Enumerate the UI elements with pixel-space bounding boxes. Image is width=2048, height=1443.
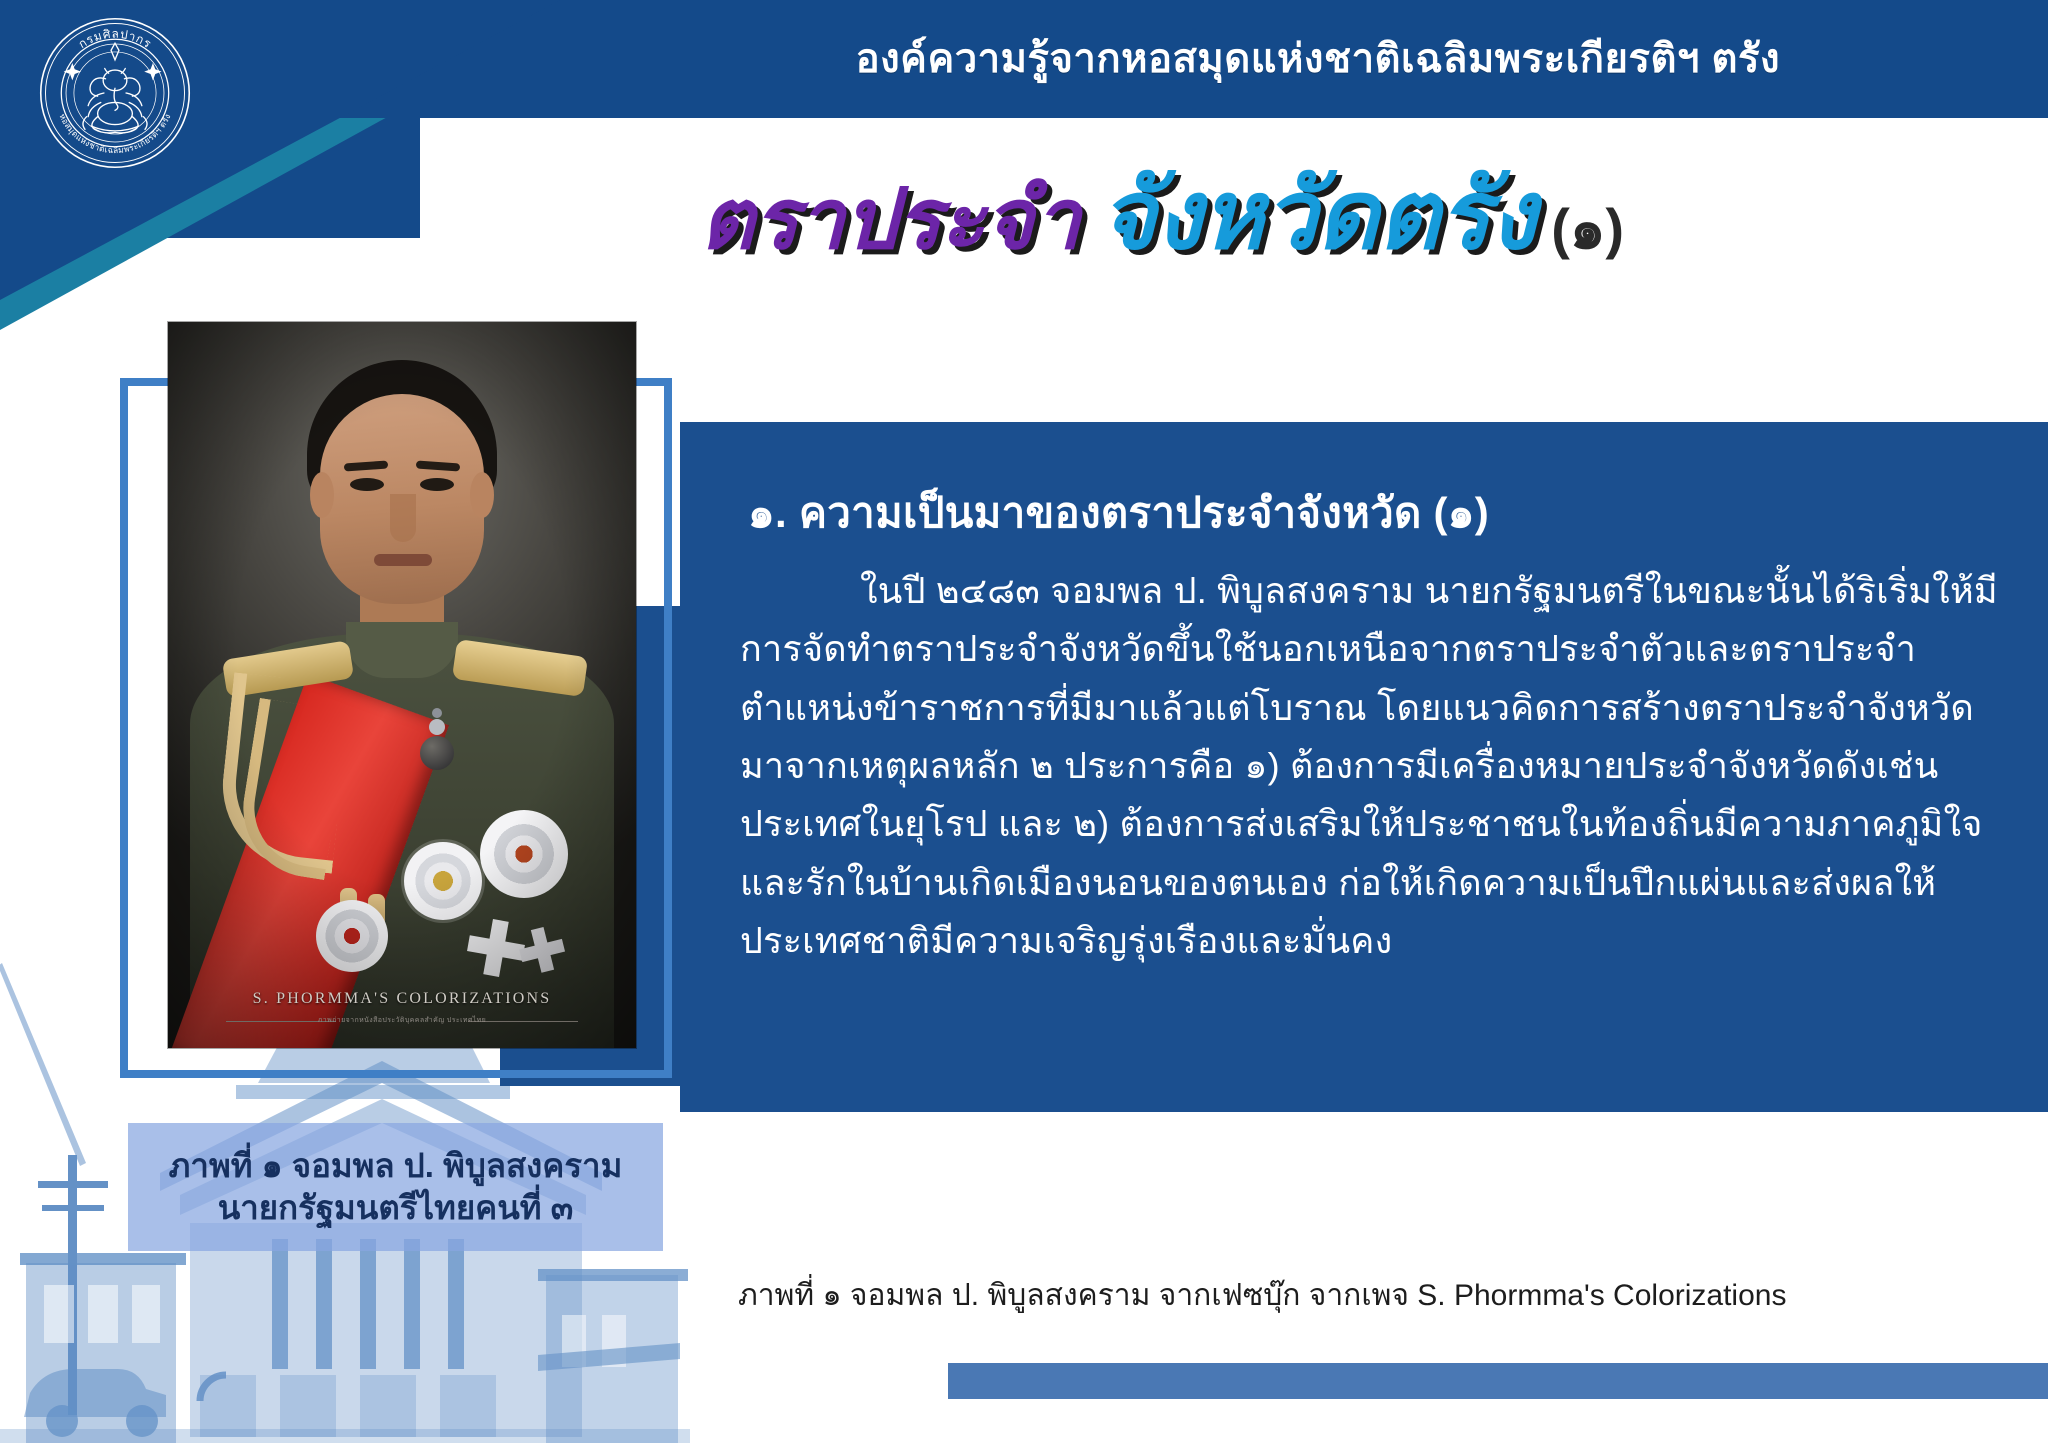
fine-arts-department-seal-icon: กรมศิลปากร หอสมุดแห่งชาติเฉลิมพระเกียรติ… — [36, 14, 194, 172]
photo-vignette — [168, 322, 636, 1048]
photo-watermark-subtitle: ภาพถ่ายจากหนังสือประวัติบุคคลสำคัญ ประเท… — [168, 1015, 636, 1026]
figure-caption-box: ภาพที่ ๑ จอมพล ป. พิบูลสงคราม นายกรัฐมนต… — [128, 1123, 663, 1251]
section-body-text: ในปี ๒๔๘๓ จอมพล ป. พิบูลสงคราม นายกรัฐมน… — [740, 562, 2010, 970]
svg-text:หอสมุดแห่งชาติเฉลิมพระเกียรติฯ: หอสมุดแห่งชาติเฉลิมพระเกียรติฯ ตรัง — [57, 112, 172, 155]
svg-text:กรมศิลปากร: กรมศิลปากร — [76, 27, 154, 51]
seal-top-text: กรมศิลปากร — [76, 27, 154, 51]
title-part-3: (๑) — [1551, 197, 1624, 260]
title-part-1: ตราประจำ — [700, 177, 1080, 261]
organization-title: องค์ความรู้จากหอสมุดแห่งชาติเฉลิมพระเกีย… — [856, 26, 1780, 90]
figure-caption-line-1: ภาพที่ ๑ จอมพล ป. พิบูลสงคราม — [169, 1145, 623, 1187]
photo-watermark: S. PHORMMA'S COLORIZATIONS — [168, 990, 636, 1008]
footer-accent-bar — [948, 1363, 2048, 1399]
page-title: ตราประจำจังหวัดตรัง(๑) — [700, 168, 2020, 273]
section-heading: ๑. ความเป็นมาของตราประจำจังหวัด (๑) — [748, 480, 1489, 546]
content-panel: ๑. ความเป็นมาของตราประจำจังหวัด (๑) ในปี… — [680, 422, 2048, 1112]
portrait-photo: S. PHORMMA'S COLORIZATIONS ภาพถ่ายจากหนั… — [168, 322, 636, 1048]
source-credit: ภาพที่ ๑ จอมพล ป. พิบูลสงคราม จากเฟซบุ๊ก… — [738, 1272, 1786, 1319]
figure-caption-line-2: นายกรัฐมนตรีไทยคนที่ ๓ — [218, 1187, 574, 1229]
seal-bottom-text: หอสมุดแห่งชาติเฉลิมพระเกียรติฯ ตรัง — [57, 112, 172, 155]
slide-canvas: องค์ความรู้จากหอสมุดแห่งชาติเฉลิมพระเกีย… — [0, 0, 2048, 1443]
title-part-2: จังหวัดตรัง — [1100, 168, 1535, 264]
